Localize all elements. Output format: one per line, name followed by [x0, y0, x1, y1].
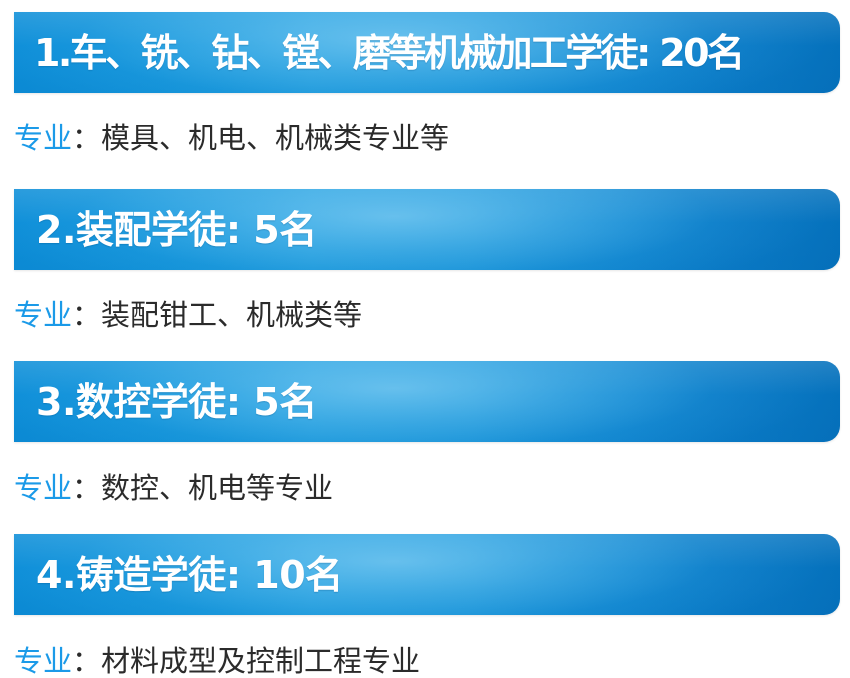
job-title-text: 3.数控学徒: 5名	[36, 383, 317, 421]
job-title-text: 4.铸造学徒: 10名	[36, 556, 343, 594]
specialty-label: 专业	[14, 471, 72, 505]
job-title-text: 2.装配学徒: 5名	[36, 211, 317, 249]
specialty-label: 专业	[14, 644, 72, 678]
job-entry: 4.铸造学徒: 10名 专业：材料成型及控制工程专业	[0, 534, 850, 676]
job-title-banner: 3.数控学徒: 5名	[14, 361, 840, 442]
specialty-label: 专业	[14, 121, 72, 155]
specialty-separator: ：	[72, 121, 101, 155]
job-listing-poster: 1.车、铣、钻、镗、磨等机械加工学徒: 20名 专业：模具、机电、机械类专业等 …	[0, 12, 850, 672]
job-entry: 1.车、铣、钻、镗、磨等机械加工学徒: 20名 专业：模具、机电、机械类专业等	[0, 12, 850, 153]
job-specialty-line: 专业：模具、机电、机械类专业等	[14, 124, 850, 153]
job-title-banner: 4.铸造学徒: 10名	[14, 534, 840, 615]
specialty-value: 材料成型及控制工程专业	[101, 644, 420, 678]
specialty-value: 模具、机电、机械类专业等	[101, 121, 449, 155]
job-entry: 3.数控学徒: 5名 专业：数控、机电等专业	[0, 361, 850, 503]
specialty-separator: ：	[72, 471, 101, 505]
specialty-separator: ：	[72, 644, 101, 678]
specialty-separator: ：	[72, 298, 101, 332]
specialty-label: 专业	[14, 298, 72, 332]
specialty-value: 装配钳工、机械类等	[101, 298, 362, 332]
job-specialty-line: 专业：装配钳工、机械类等	[14, 301, 850, 330]
job-title-banner: 1.车、铣、钻、镗、磨等机械加工学徒: 20名	[14, 12, 840, 93]
job-title-text: 1.车、铣、钻、镗、磨等机械加工学徒: 20名	[34, 34, 742, 72]
job-entry: 2.装配学徒: 5名 专业：装配钳工、机械类等	[0, 189, 850, 330]
job-specialty-line: 专业：数控、机电等专业	[14, 474, 850, 503]
job-specialty-line: 专业：材料成型及控制工程专业	[14, 647, 850, 676]
job-title-banner: 2.装配学徒: 5名	[14, 189, 840, 270]
specialty-value: 数控、机电等专业	[101, 471, 333, 505]
